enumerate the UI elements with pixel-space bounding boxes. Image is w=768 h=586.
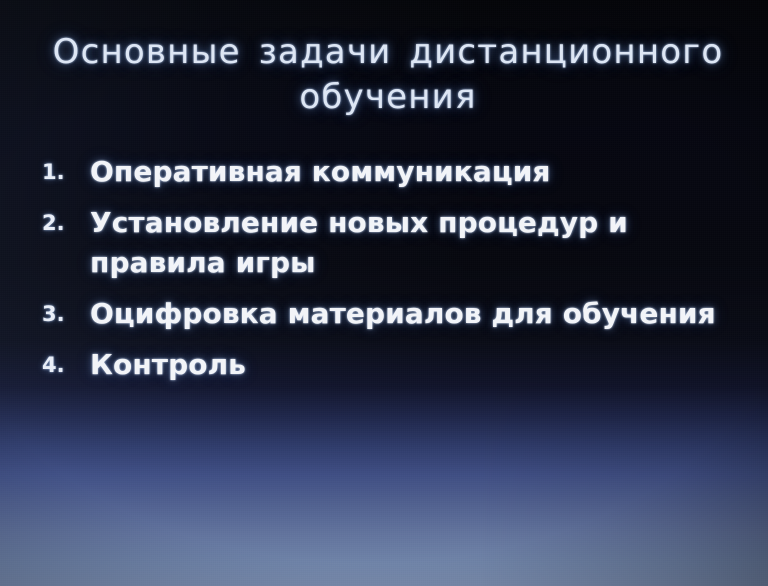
list-item: 2. Установление новых процедур и правила… bbox=[42, 203, 738, 283]
list-item-label: Оцифровка материалов для обучения bbox=[90, 294, 738, 334]
slide-content: Основные задачи дистанционного обучения … bbox=[0, 0, 768, 586]
list-item-label: Оперативная коммуникация bbox=[90, 152, 738, 192]
task-list: 1. Оперативная коммуникация 2. Установле… bbox=[42, 152, 738, 396]
list-item-marker: 4. bbox=[42, 345, 90, 385]
list-item-label: Установление новых процедур и правила иг… bbox=[90, 203, 738, 283]
list-item-marker: 1. bbox=[42, 152, 90, 192]
slide-title: Основные задачи дистанционного обучения bbox=[30, 30, 746, 120]
list-item-label: Контроль bbox=[90, 345, 738, 385]
list-item: 3. Оцифровка материалов для обучения bbox=[42, 294, 738, 334]
list-item-marker: 2. bbox=[42, 203, 90, 243]
presentation-slide: Основные задачи дистанционного обучения … bbox=[0, 0, 768, 586]
list-item: 4. Контроль bbox=[42, 345, 738, 385]
list-item: 1. Оперативная коммуникация bbox=[42, 152, 738, 192]
list-item-marker: 3. bbox=[42, 294, 90, 334]
